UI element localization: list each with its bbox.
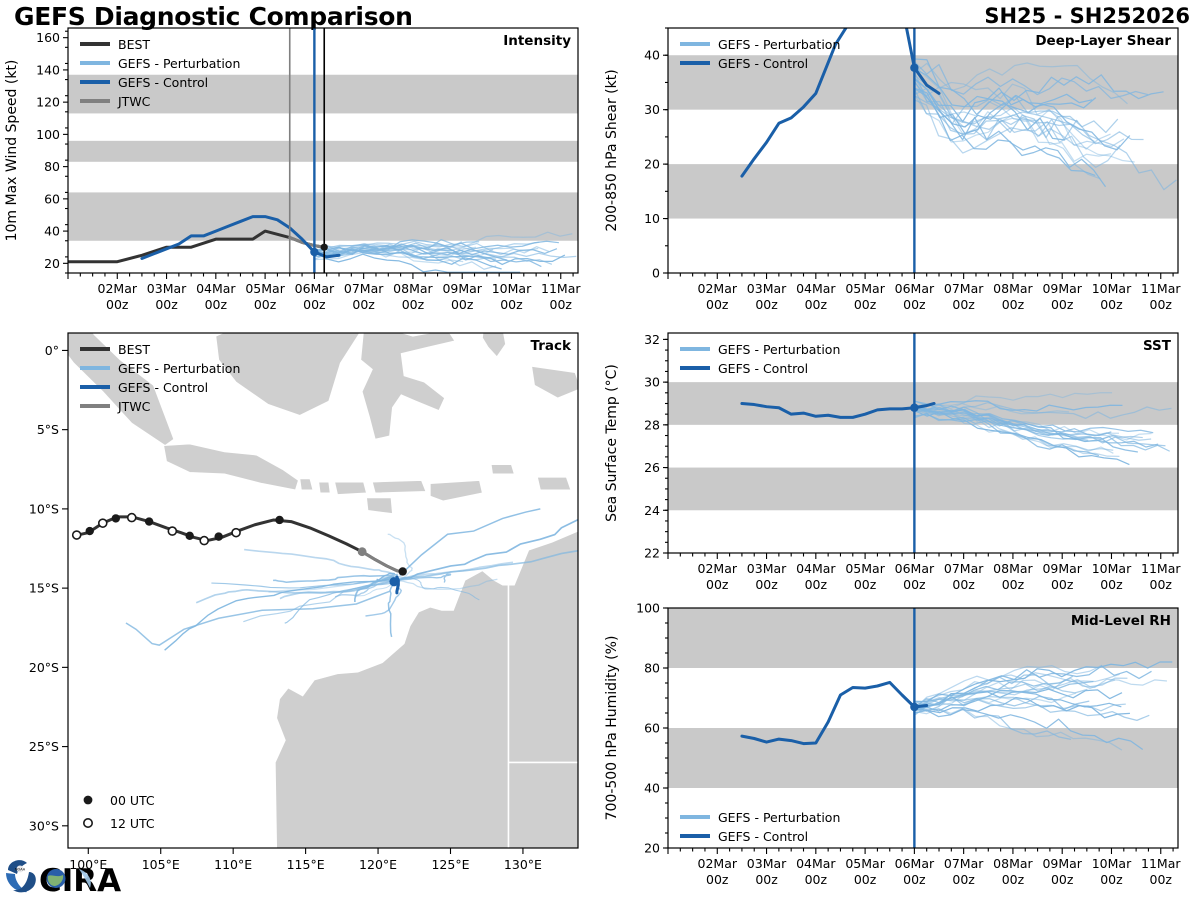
x-tick-date: 04Mar: [796, 561, 836, 576]
y-axis-label: Sea Surface Temp (°C): [604, 364, 620, 522]
x-tick-hour: 00z: [205, 297, 228, 312]
longitude-tick-label: 105°E: [142, 857, 180, 872]
track-point-00z: [275, 516, 283, 524]
latitude-tick-label: 20°S: [29, 660, 59, 675]
legend-label: GEFS - Perturbation: [118, 361, 240, 376]
x-tick-date: 03Mar: [147, 281, 187, 296]
x-tick-date: 04Mar: [796, 281, 836, 296]
x-tick-date: 08Mar: [993, 561, 1033, 576]
x-tick-hour: 00z: [952, 577, 975, 592]
legend[interactable]: GEFS - PerturbationGEFS - Control: [680, 810, 840, 844]
x-tick-date: 06Mar: [895, 561, 935, 576]
lombok-island: [319, 482, 331, 493]
x-tick-hour: 00z: [1002, 872, 1025, 887]
legend-label: JTWC: [117, 94, 151, 109]
legend-12utc-icon: [84, 819, 92, 827]
longitude-tick-label: 125°E: [431, 857, 469, 872]
y-tick-label: 140: [36, 62, 60, 77]
x-tick-hour: 00z: [952, 872, 975, 887]
panel-track[interactable]: 0°5°S10°S15°S20°S25°S30°S100°E105°E110°E…: [0, 325, 600, 900]
legend-label: GEFS - Control: [118, 380, 208, 395]
panel-mid-level-rh[interactable]: 20406080100700-500 hPa Humidity (%)02Mar…: [600, 600, 1200, 900]
y-tick-label: 60: [44, 191, 60, 206]
y-tick-label: 10: [644, 211, 660, 226]
latitude-tick-label: 25°S: [29, 739, 59, 754]
noaa-logo-label: NOAA: [15, 868, 26, 872]
x-tick-date: 10Mar: [1092, 561, 1132, 576]
y-tick-label: 30: [644, 102, 660, 117]
x-tick-date: 02Mar: [698, 856, 738, 871]
panel-title: SST: [1143, 338, 1172, 354]
x-tick-hour: 00z: [1150, 297, 1173, 312]
control-init-marker: [910, 64, 918, 72]
y-tick-label: 60: [644, 721, 660, 736]
shaded-bands: [668, 608, 1178, 788]
x-tick-date: 11Mar: [541, 281, 581, 296]
x-tick-hour: 00z: [550, 297, 573, 312]
x-axis: 02Mar00z03Mar00z04Mar00z05Mar00z06Mar00z…: [68, 273, 581, 312]
intensity-chart: 2040608010012014016010m Max Wind Speed (…: [0, 20, 600, 325]
y-tick-label: 26: [644, 460, 660, 475]
x-tick-hour: 00z: [106, 297, 129, 312]
latitude-tick-label: 0°: [45, 343, 59, 358]
x-tick-hour: 00z: [1002, 297, 1025, 312]
x-tick-hour: 00z: [1051, 872, 1074, 887]
x-tick-hour: 00z: [755, 577, 778, 592]
latitude-tick-label: 5°S: [37, 422, 59, 437]
track-point-12z: [99, 519, 107, 527]
cira-logo-wordmark: CIRA: [39, 863, 121, 899]
legend-label: GEFS - Control: [718, 56, 808, 71]
x-tick-hour: 00z: [451, 297, 474, 312]
latitude-tick-label: 30°S: [29, 818, 59, 833]
control-init-marker: [910, 703, 918, 711]
x-tick-date: 09Mar: [1042, 561, 1082, 576]
x-tick-date: 08Mar: [993, 281, 1033, 296]
longitude-tick-label: 115°E: [287, 857, 325, 872]
x-tick-date: 06Mar: [895, 856, 935, 871]
legend-label: GEFS - Perturbation: [718, 810, 840, 825]
legend-label: GEFS - Perturbation: [118, 56, 240, 71]
track-point-12z: [73, 531, 81, 539]
track-point-12z: [128, 514, 136, 522]
x-tick-hour: 00z: [1100, 872, 1123, 887]
x-tick-hour: 00z: [303, 297, 326, 312]
y-tick-label: 100: [36, 127, 60, 142]
control-init-marker: [310, 248, 318, 256]
track-point-00z: [145, 517, 153, 525]
x-tick-date: 08Mar: [993, 856, 1033, 871]
x-tick-date: 05Mar: [845, 856, 885, 871]
legend-label: JTWC: [117, 399, 151, 414]
y-tick-label: 20: [644, 157, 660, 172]
y-axis: 20406080100120140160: [36, 30, 68, 273]
x-tick-date: 10Mar: [1092, 281, 1132, 296]
x-tick-date: 08Mar: [393, 281, 433, 296]
y-tick-label: 20: [644, 841, 660, 856]
longitude-tick-label: 120°E: [359, 857, 397, 872]
x-tick-hour: 00z: [706, 297, 729, 312]
legend-label: GEFS - Perturbation: [718, 37, 840, 52]
y-axis: 222426283032: [644, 332, 668, 561]
x-tick-hour: 00z: [706, 872, 729, 887]
track-point-12z: [232, 529, 240, 537]
y-tick-label: 22: [644, 546, 660, 561]
x-tick-hour: 00z: [903, 872, 926, 887]
panel-title: Track: [531, 338, 572, 354]
y-tick-label: 40: [44, 224, 60, 239]
legend-12utc-label: 12 UTC: [110, 816, 155, 831]
y-axis: 20406080100: [636, 601, 668, 856]
tanimbar-islands: [537, 477, 570, 490]
latitude-tick-label: 15°S: [29, 581, 59, 596]
x-tick-date: 05Mar: [245, 281, 285, 296]
panel-title: Deep-Layer Shear: [1035, 33, 1171, 49]
legend-label: GEFS - Perturbation: [718, 342, 840, 357]
best-final-marker: [321, 244, 328, 251]
y-tick-label: 80: [44, 159, 60, 174]
x-tick-date: 07Mar: [944, 561, 984, 576]
noaa-logo-icon: NOAA: [6, 860, 36, 892]
x-tick-date: 09Mar: [1042, 281, 1082, 296]
y-tick-label: 100: [636, 601, 660, 616]
x-axis: 02Mar00z03Mar00z04Mar00z05Mar00z06Mar00z…: [668, 273, 1181, 312]
x-tick-date: 11Mar: [1141, 561, 1181, 576]
x-tick-date: 10Mar: [492, 281, 532, 296]
x-tick-date: 05Mar: [845, 281, 885, 296]
x-tick-hour: 00z: [1002, 577, 1025, 592]
track-point-00z: [86, 527, 94, 535]
track-point-00z: [186, 532, 194, 540]
x-tick-hour: 00z: [854, 297, 877, 312]
longitude-tick-label: 110°E: [214, 857, 252, 872]
x-tick-hour: 00z: [1100, 577, 1123, 592]
x-tick-date: 06Mar: [295, 281, 335, 296]
y-tick-label: 24: [644, 503, 660, 518]
legend-label: BEST: [118, 37, 150, 52]
y-tick-label: 28: [644, 417, 660, 432]
x-tick-date: 09Mar: [442, 281, 482, 296]
x-tick-date: 09Mar: [1042, 856, 1082, 871]
y-tick-label: 160: [36, 30, 60, 45]
noaa-cira-logo: NOAA CIRA: [4, 855, 134, 899]
y-tick-label: 30: [644, 375, 660, 390]
shaded-bands: [668, 382, 1178, 510]
sst-chart: 222426283032Sea Surface Temp (°C)02Mar00…: [600, 325, 1200, 605]
track-point-12z: [168, 527, 176, 535]
x-tick-date: 06Mar: [895, 281, 935, 296]
x-tick-hour: 00z: [1100, 297, 1123, 312]
y-tick-label: 20: [44, 256, 60, 271]
x-tick-date: 03Mar: [747, 561, 787, 576]
y-axis-label: 200-850 hPa Shear (kt): [604, 69, 620, 231]
x-tick-hour: 00z: [755, 872, 778, 887]
x-tick-hour: 00z: [500, 297, 523, 312]
x-tick-date: 04Mar: [796, 856, 836, 871]
rh-chart: 20406080100700-500 hPa Humidity (%)02Mar…: [600, 600, 1200, 900]
y-axis-label: 10m Max Wind Speed (kt): [4, 60, 20, 242]
latitude-axis: 0°5°S10°S15°S20°S25°S30°S: [29, 343, 68, 833]
panel-sst[interactable]: 222426283032Sea Surface Temp (°C)02Mar00…: [600, 325, 1200, 605]
jtwc-start-marker: [358, 547, 367, 556]
x-tick-hour: 00z: [155, 297, 178, 312]
y-tick-label: 40: [644, 48, 660, 63]
panel-intensity[interactable]: 2040608010012014016010m Max Wind Speed (…: [0, 20, 600, 325]
x-tick-hour: 00z: [755, 297, 778, 312]
x-tick-hour: 00z: [352, 297, 375, 312]
x-tick-hour: 00z: [952, 297, 975, 312]
longitude-axis: 100°E105°E110°E115°E120°E125°E130°E: [69, 848, 542, 872]
legend-label: BEST: [118, 342, 150, 357]
control-init-marker: [389, 577, 398, 586]
legend-label: GEFS - Control: [718, 361, 808, 376]
shear-chart: 010203040200-850 hPa Shear (kt)02Mar00z0…: [600, 20, 1200, 325]
x-tick-hour: 00z: [254, 297, 277, 312]
y-tick-label: 0: [652, 266, 660, 281]
legend-label: GEFS - Control: [718, 829, 808, 844]
x-axis: 02Mar00z03Mar00z04Mar00z05Mar00z06Mar00z…: [668, 848, 1181, 887]
babar-islands: [491, 465, 514, 475]
panel-deep-layer-shear[interactable]: 010203040200-850 hPa Shear (kt)02Mar00z0…: [600, 20, 1200, 325]
x-tick-hour: 00z: [402, 297, 425, 312]
y-tick-label: 40: [644, 781, 660, 796]
y-tick-label: 80: [644, 661, 660, 676]
panel-title: Mid-Level RH: [1071, 613, 1171, 629]
x-tick-date: 07Mar: [344, 281, 384, 296]
x-tick-date: 07Mar: [944, 856, 984, 871]
flores-island: [372, 480, 426, 493]
track-chart: 0°5°S10°S15°S20°S25°S30°S100°E105°E110°E…: [0, 325, 600, 900]
track-point-12z: [200, 537, 208, 545]
x-tick-date: 03Mar: [747, 856, 787, 871]
latitude-tick-label: 10°S: [29, 501, 59, 516]
x-tick-hour: 00z: [903, 577, 926, 592]
legend[interactable]: GEFS - PerturbationGEFS - Control: [680, 342, 840, 376]
x-tick-hour: 00z: [1150, 872, 1173, 887]
x-tick-date: 11Mar: [1141, 856, 1181, 871]
x-tick-date: 04Mar: [196, 281, 236, 296]
track-point-00z: [214, 532, 222, 540]
x-tick-hour: 00z: [854, 872, 877, 887]
x-tick-hour: 00z: [1051, 297, 1074, 312]
x-axis: 02Mar00z03Mar00z04Mar00z05Mar00z06Mar00z…: [668, 553, 1181, 592]
control-init-marker: [910, 404, 918, 412]
x-tick-hour: 00z: [805, 872, 828, 887]
x-tick-date: 11Mar: [1141, 281, 1181, 296]
x-tick-hour: 00z: [854, 577, 877, 592]
x-tick-hour: 00z: [805, 297, 828, 312]
x-tick-date: 05Mar: [845, 561, 885, 576]
y-tick-label: 32: [644, 332, 660, 347]
y-axis-label: 700-500 hPa Humidity (%): [604, 636, 620, 821]
panel-title: Intensity: [503, 33, 571, 49]
track-point-00z: [112, 514, 120, 522]
legend-00utc-icon: [84, 796, 93, 805]
sumbawa-island: [335, 482, 367, 495]
sumba-island: [367, 498, 393, 514]
longitude-tick-label: 130°E: [504, 857, 542, 872]
x-tick-hour: 00z: [706, 577, 729, 592]
legend-00utc-label: 00 UTC: [110, 793, 155, 808]
track-point-00z: [398, 567, 406, 575]
x-tick-date: 02Mar: [698, 561, 738, 576]
x-tick-date: 07Mar: [944, 281, 984, 296]
y-axis: 010203040: [644, 28, 668, 281]
x-tick-date: 02Mar: [98, 281, 138, 296]
x-tick-hour: 00z: [903, 297, 926, 312]
x-tick-date: 10Mar: [1092, 856, 1132, 871]
x-tick-date: 03Mar: [747, 281, 787, 296]
legend-label: GEFS - Control: [118, 75, 208, 90]
x-tick-date: 02Mar: [698, 281, 738, 296]
x-tick-hour: 00z: [1150, 577, 1173, 592]
y-tick-label: 120: [36, 95, 60, 110]
x-tick-hour: 00z: [805, 577, 828, 592]
figure-root: GEFS Diagnostic Comparison SH25 - SH2520…: [0, 0, 1200, 900]
x-tick-hour: 00z: [1051, 577, 1074, 592]
